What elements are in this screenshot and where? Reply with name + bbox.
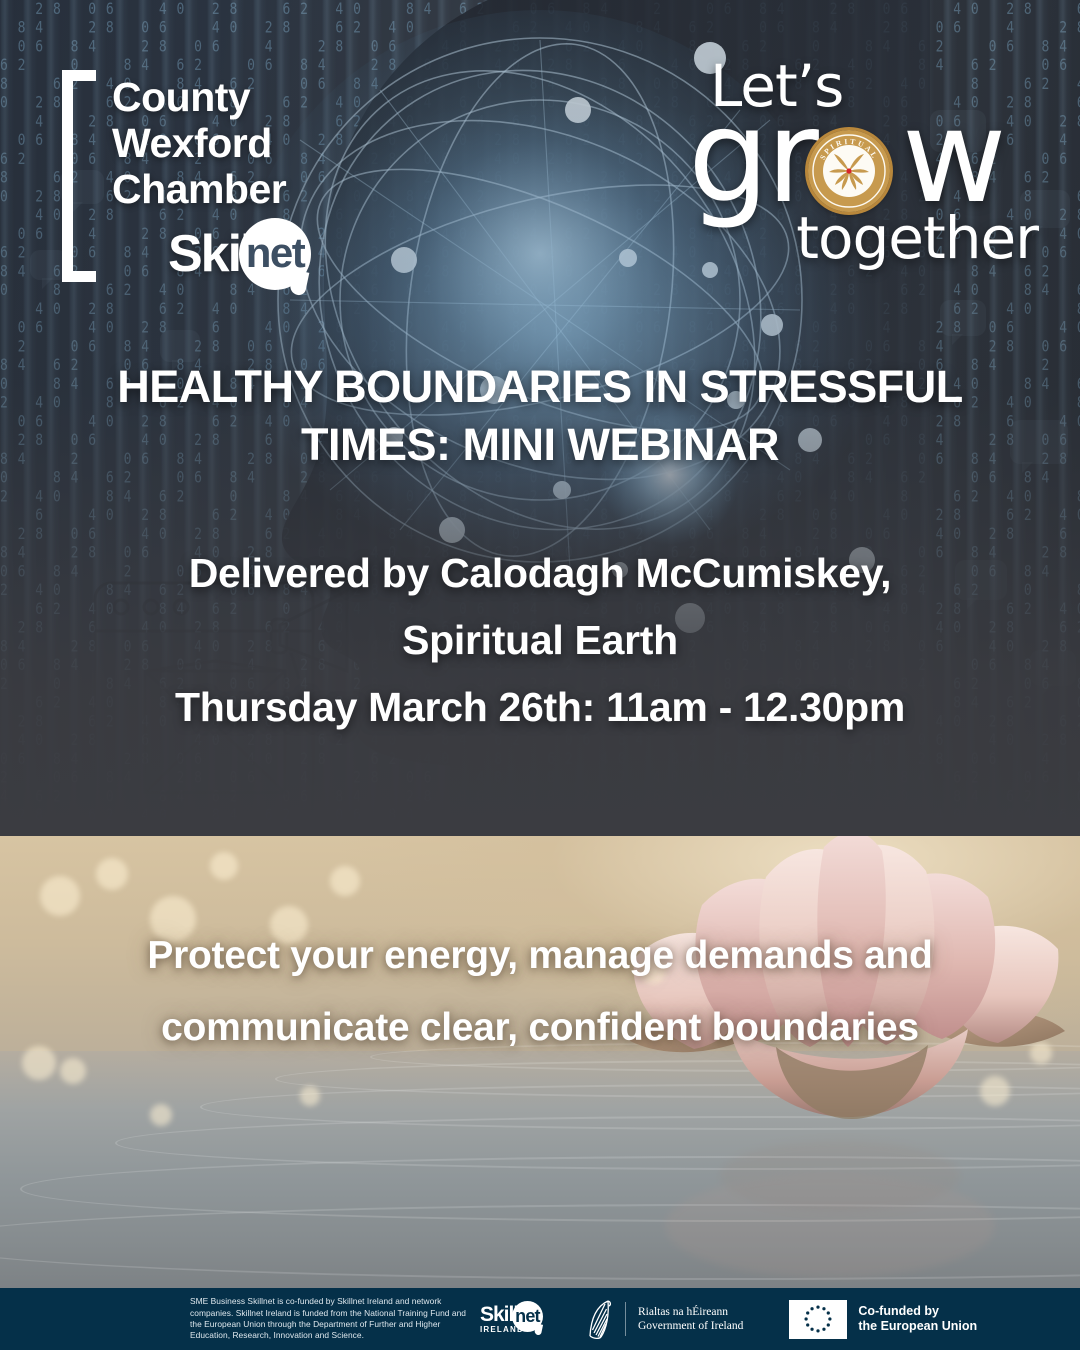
eu-text: Co-funded by the European Union <box>858 1304 977 1334</box>
top-section: 2 8 0 6 4 0 2 8 6 2 4 0 8 4 6 2 0 6 8 4 … <box>0 0 1080 836</box>
government-text: Rialtas na hÉireann Government of Irelan… <box>638 1305 743 1333</box>
government-english: Government of Ireland <box>638 1319 743 1333</box>
chamber-line-2: Wexford <box>112 120 286 166</box>
funding-statement: SME Business Skillnet is co-funded by Sk… <box>190 1296 472 1342</box>
footer-skillnet-circle-word: net <box>515 1306 540 1327</box>
chamber-line-3: Chamber <box>112 166 286 212</box>
skillnet-circle-word: net <box>246 229 305 277</box>
grow-part-2: w <box>902 94 1004 222</box>
footer: SME Business Skillnet is co-funded by Sk… <box>0 1288 1080 1350</box>
detail-presenter: Delivered by Calodagh McCumiskey, <box>90 540 990 607</box>
skillnet-circle: net <box>239 218 311 290</box>
eu-flag-icon <box>789 1300 847 1339</box>
grow-part-1: gr <box>688 94 816 222</box>
irish-harp-icon <box>585 1298 613 1340</box>
event-tagline: Protect your energy, manage demands and … <box>0 920 1080 1064</box>
grow-together-text: together <box>796 204 1038 272</box>
detail-organisation: Spiritual Earth <box>90 607 990 674</box>
footer-skillnet-ireland-logo: Skill IRELAND net <box>480 1304 543 1335</box>
footer-logos: Skill IRELAND net <box>480 1298 977 1340</box>
government-irish: Rialtas na hÉireann <box>638 1305 743 1319</box>
eu-line-1: Co-funded by <box>858 1304 977 1319</box>
eu-line-2: the European Union <box>858 1319 977 1334</box>
skillnet-logo: Skill net <box>168 218 311 290</box>
page-title: HEALTHY BOUNDARIES IN STRESSFUL TIMES: M… <box>0 358 1080 474</box>
spiritual-earth-medallion-icon: SPIRITUAL EARTH <box>808 130 890 212</box>
government-of-ireland-logo: Rialtas na hÉireann Government of Irelan… <box>585 1298 743 1340</box>
bracket-icon <box>62 70 96 282</box>
lets-grow-together-logo: Let’s gr w <box>688 52 1038 282</box>
eu-cofunding-logo: Co-funded by the European Union <box>789 1300 977 1339</box>
tagline-line-1: Protect your energy, manage demands and <box>70 920 1010 992</box>
event-details: Delivered by Calodagh McCumiskey, Spirit… <box>0 540 1080 741</box>
logo-divider <box>625 1302 626 1336</box>
chamber-line-1: County <box>112 74 286 120</box>
poster: 2 8 0 6 4 0 2 8 6 2 4 0 8 4 6 2 0 6 8 4 … <box>0 0 1080 1350</box>
lotus-reflection <box>640 1136 1040 1286</box>
detail-datetime: Thursday March 26th: 11am - 12.30pm <box>90 674 990 741</box>
tagline-line-2: communicate clear, confident boundaries <box>70 992 1010 1064</box>
footer-skillnet-circle: net <box>512 1301 543 1332</box>
